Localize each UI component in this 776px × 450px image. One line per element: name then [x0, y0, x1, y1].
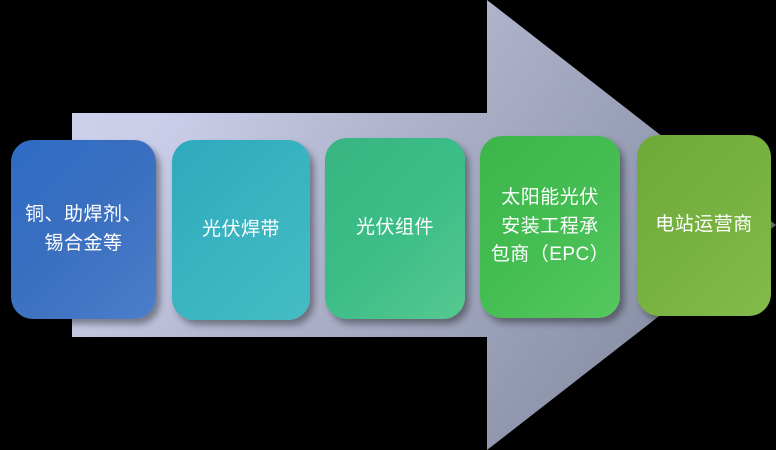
process-step-1[interactable]: 铜、助焊剂、 锡合金等 — [11, 140, 156, 319]
process-step-3-label: 光伏组件 — [335, 214, 455, 243]
process-step-1-label: 铜、助焊剂、 锡合金等 — [21, 201, 146, 259]
process-step-2-label: 光伏焊带 — [182, 216, 300, 245]
diagram-canvas: 铜、助焊剂、 锡合金等 光伏焊带 光伏组件 太阳能光伏 安装工程承 包商（EPC… — [0, 0, 776, 450]
process-step-4-label: 太阳能光伏 安装工程承 包商（EPC） — [490, 184, 610, 271]
process-step-5[interactable]: 电站运营商 — [637, 135, 771, 316]
process-step-2[interactable]: 光伏焊带 — [172, 140, 310, 320]
process-step-3[interactable]: 光伏组件 — [325, 138, 465, 319]
process-step-5-label: 电站运营商 — [647, 211, 761, 240]
process-step-4[interactable]: 太阳能光伏 安装工程承 包商（EPC） — [480, 136, 620, 318]
